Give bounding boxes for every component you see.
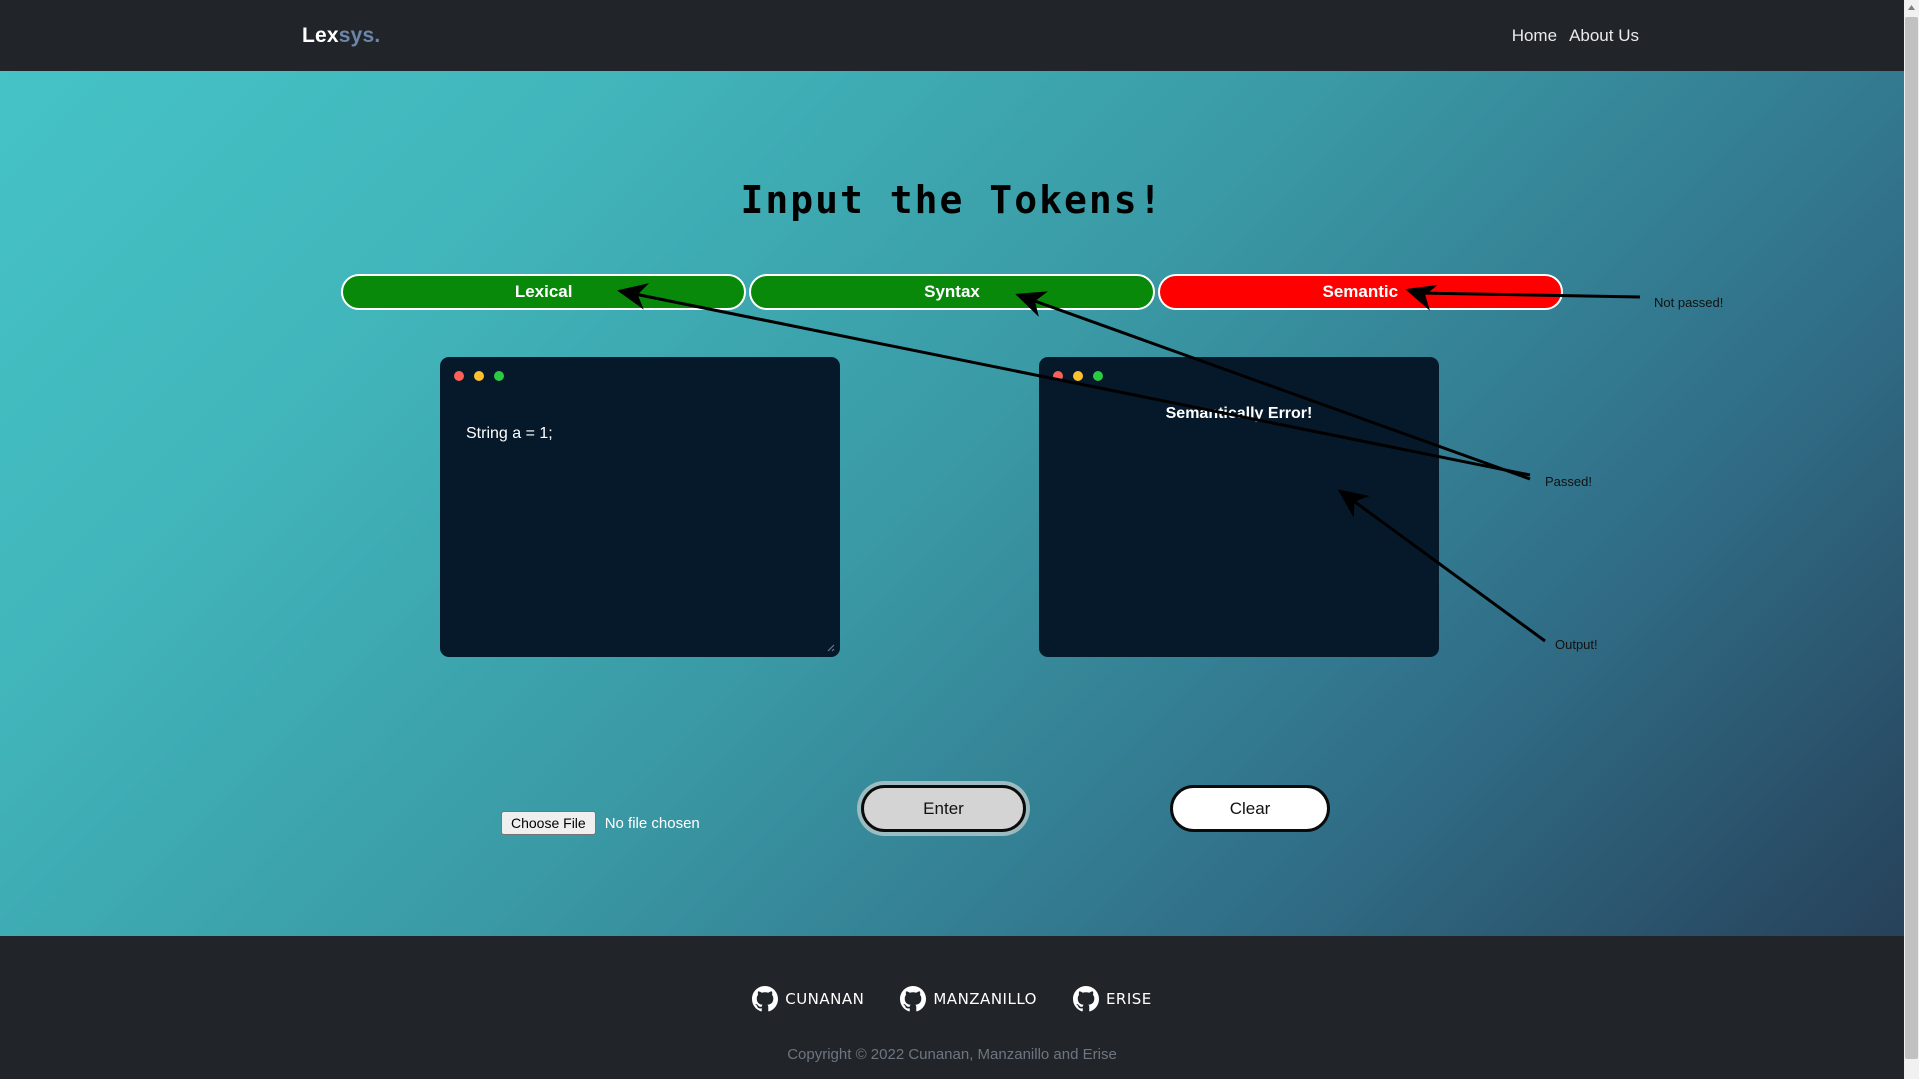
file-input-row: Choose File No file chosen: [501, 811, 700, 835]
main-stage: Input the Tokens! Lexical Syntax Semanti…: [0, 71, 1904, 936]
output-message: Semantically Error!: [1039, 405, 1439, 423]
output-panel: Semantically Error!: [1039, 357, 1439, 657]
choose-file-button[interactable]: Choose File: [501, 811, 596, 835]
footer-credits: CUNANAN MANZANILLO ERISE: [0, 986, 1904, 1012]
enter-button[interactable]: Enter: [861, 785, 1026, 832]
brand-logo[interactable]: Lexsys.: [302, 24, 380, 48]
brand-logo-primary: Lex: [302, 24, 339, 47]
annotation-not-passed: Not passed!: [1654, 295, 1723, 310]
minimize-dot-icon: [1073, 371, 1083, 381]
maximize-dot-icon: [494, 371, 504, 381]
minimize-dot-icon: [474, 371, 484, 381]
nav-link-about-us[interactable]: About Us: [1569, 26, 1639, 46]
code-input[interactable]: [440, 405, 840, 657]
page-title: Input the Tokens!: [0, 178, 1904, 222]
editor-window-dots: [454, 371, 504, 381]
nav-link-home[interactable]: Home: [1512, 26, 1557, 46]
brand-logo-accent: sys.: [339, 24, 381, 47]
copyright-text: Copyright © 2022 Cunanan, Manzanillo and…: [0, 1046, 1904, 1063]
credit-name-manzanillo: MANZANILLO: [933, 990, 1037, 1008]
github-icon: [900, 986, 926, 1012]
clear-button[interactable]: Clear: [1170, 785, 1330, 832]
github-icon: [752, 986, 778, 1012]
phase-status-bar: Lexical Syntax Semantic: [341, 274, 1563, 310]
annotation-output: Output!: [1555, 637, 1598, 652]
scrollbar-thumb[interactable]: [1905, 17, 1918, 1059]
close-dot-icon: [1053, 371, 1063, 381]
credit-name-erise: ERISE: [1106, 990, 1152, 1008]
scroll-up-arrow-icon[interactable]: [1904, 0, 1919, 15]
vertical-scrollbar[interactable]: [1904, 0, 1919, 1079]
footer: CUNANAN MANZANILLO ERISE Copyright © 202…: [0, 936, 1904, 1079]
annotation-passed: Passed!: [1545, 474, 1592, 489]
phase-pill-semantic[interactable]: Semantic: [1158, 274, 1563, 310]
phase-pill-semantic-label: Semantic: [1323, 282, 1399, 302]
navbar: Lexsys. Home About Us: [0, 0, 1904, 71]
output-window-dots: [1053, 371, 1103, 381]
phase-pill-syntax-label: Syntax: [924, 282, 980, 302]
phase-pill-lexical[interactable]: Lexical: [341, 274, 746, 310]
app-root: Lexsys. Home About Us Input the Tokens! …: [0, 0, 1919, 1079]
file-status-label: No file chosen: [605, 815, 700, 832]
maximize-dot-icon: [1093, 371, 1103, 381]
code-editor-panel: [440, 357, 840, 657]
close-dot-icon: [454, 371, 464, 381]
credit-name-cunanan: CUNANAN: [785, 990, 864, 1008]
credit-link-cunanan[interactable]: CUNANAN: [752, 986, 864, 1012]
phase-pill-lexical-label: Lexical: [515, 282, 573, 302]
github-icon: [1073, 986, 1099, 1012]
credit-link-erise[interactable]: ERISE: [1073, 986, 1152, 1012]
phase-pill-syntax[interactable]: Syntax: [749, 274, 1154, 310]
nav-links: Home About Us: [1512, 26, 1639, 46]
credit-link-manzanillo[interactable]: MANZANILLO: [900, 986, 1037, 1012]
